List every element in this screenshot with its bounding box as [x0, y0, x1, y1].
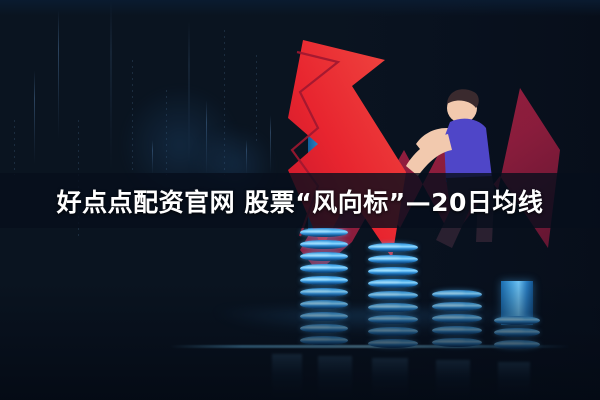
- promo-image: 好点点配资官网 股票“风向标”—20日均线: [0, 0, 600, 400]
- page-title: 好点点配资官网 股票“风向标”—20日均线: [57, 183, 544, 219]
- title-banner: 好点点配资官网 股票“风向标”—20日均线: [0, 173, 600, 228]
- bottom-vignette: [0, 280, 600, 400]
